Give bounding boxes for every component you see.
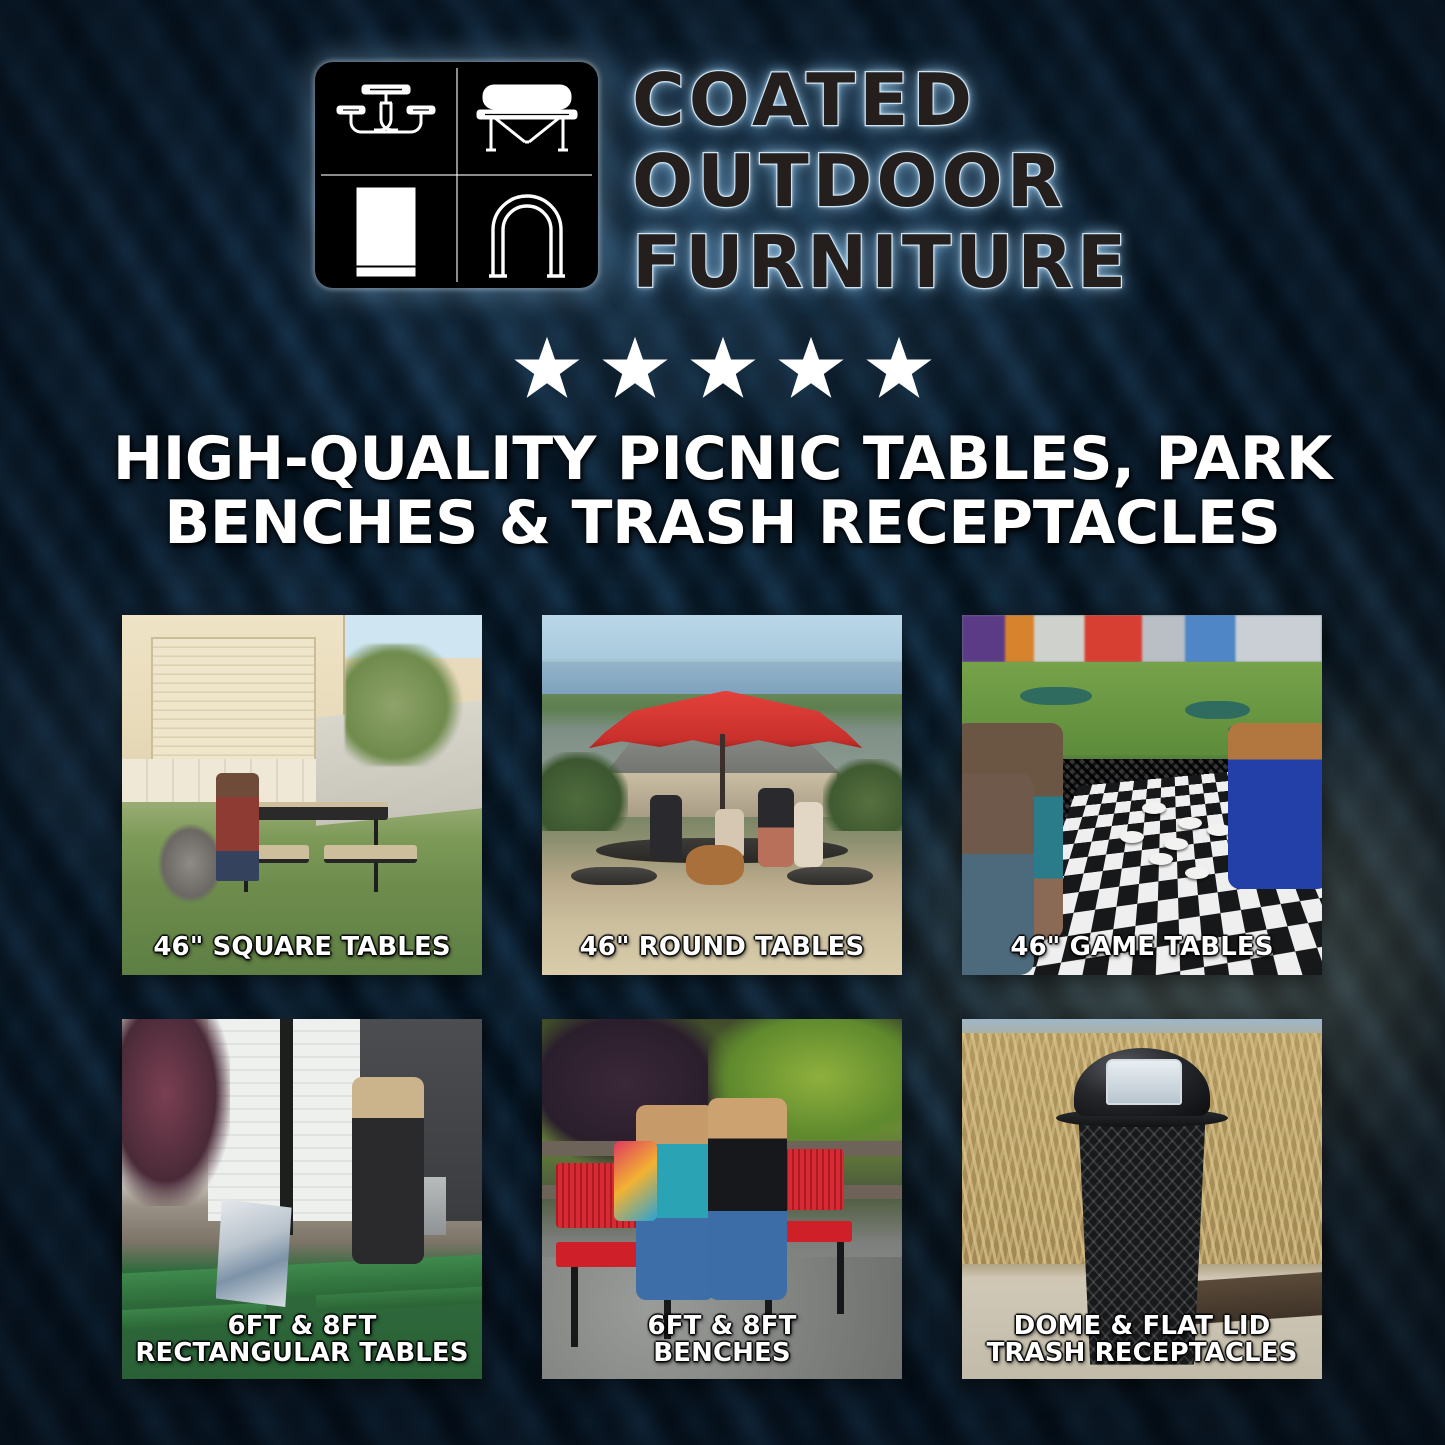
- caption-line-2: TRASH RECEPTACLES: [968, 1340, 1316, 1367]
- product-grid: 46" SQUARE TABLES 46" ROUND TABLES: [122, 615, 1323, 1379]
- product-tile-benches[interactable]: 6FT & 8FT BENCHES: [542, 1019, 902, 1379]
- product-tile-round-tables[interactable]: 46" ROUND TABLES: [542, 615, 902, 975]
- brand-line-3: FURNITURE: [632, 228, 1130, 297]
- bench-table-icon: [457, 62, 599, 175]
- caption-line-1: 46" SQUARE TABLES: [128, 934, 476, 961]
- game-tables-photo: [962, 615, 1322, 975]
- brand-line-2: OUTDOOR: [632, 147, 1066, 216]
- star-icon: [601, 335, 669, 401]
- page-title: HIGH-QUALITY PICNIC TABLES, PARK BENCHES…: [60, 428, 1385, 555]
- caption-line-2: RECTANGULAR TABLES: [128, 1340, 476, 1367]
- star-rating: [0, 335, 1445, 401]
- trash-receptacle-icon: [315, 175, 457, 288]
- caption-line-1: 6FT & 8FT: [548, 1313, 896, 1340]
- product-caption: 46" ROUND TABLES: [548, 934, 896, 961]
- caption-line-1: DOME & FLAT LID: [968, 1313, 1316, 1340]
- caption-line-2: BENCHES: [548, 1340, 896, 1367]
- brand-line-1: COATED: [632, 66, 976, 135]
- caption-line-1: 6FT & 8FT: [128, 1313, 476, 1340]
- product-tile-square-tables[interactable]: 46" SQUARE TABLES: [122, 615, 482, 975]
- product-tile-rectangular-tables[interactable]: 6FT & 8FT RECTANGULAR TABLES: [122, 1019, 482, 1379]
- star-icon: [865, 335, 933, 401]
- product-caption: DOME & FLAT LID TRASH RECEPTACLES: [968, 1313, 1316, 1367]
- promo-poster: COATED OUTDOOR FURNITURE HIGH-QUALITY PI…: [0, 0, 1445, 1445]
- caption-line-1: 46" ROUND TABLES: [548, 934, 896, 961]
- star-icon: [513, 335, 581, 401]
- product-caption: 46" SQUARE TABLES: [128, 934, 476, 961]
- product-tile-trash-receptacles[interactable]: DOME & FLAT LID TRASH RECEPTACLES: [962, 1019, 1322, 1379]
- product-caption: 46" GAME TABLES: [968, 934, 1316, 961]
- headline-line-2: BENCHES & TRASH RECEPTACLES: [60, 492, 1385, 556]
- product-caption: 6FT & 8FT RECTANGULAR TABLES: [128, 1313, 476, 1367]
- bike-rack-icon: [457, 175, 599, 288]
- caption-line-1: 46" GAME TABLES: [968, 934, 1316, 961]
- product-tile-game-tables[interactable]: 46" GAME TABLES: [962, 615, 1322, 975]
- product-caption: 6FT & 8FT BENCHES: [548, 1313, 896, 1367]
- headline-line-1: HIGH-QUALITY PICNIC TABLES, PARK: [60, 428, 1385, 492]
- star-icon: [689, 335, 757, 401]
- picnic-table-icon: [315, 62, 457, 175]
- round-tables-photo: [542, 615, 902, 975]
- brand-wordmark: COATED OUTDOOR FURNITURE: [632, 62, 1130, 297]
- star-icon: [777, 335, 845, 401]
- company-logo: [315, 62, 598, 288]
- brand-header: COATED OUTDOOR FURNITURE: [0, 62, 1445, 297]
- square-tables-photo: [122, 615, 482, 975]
